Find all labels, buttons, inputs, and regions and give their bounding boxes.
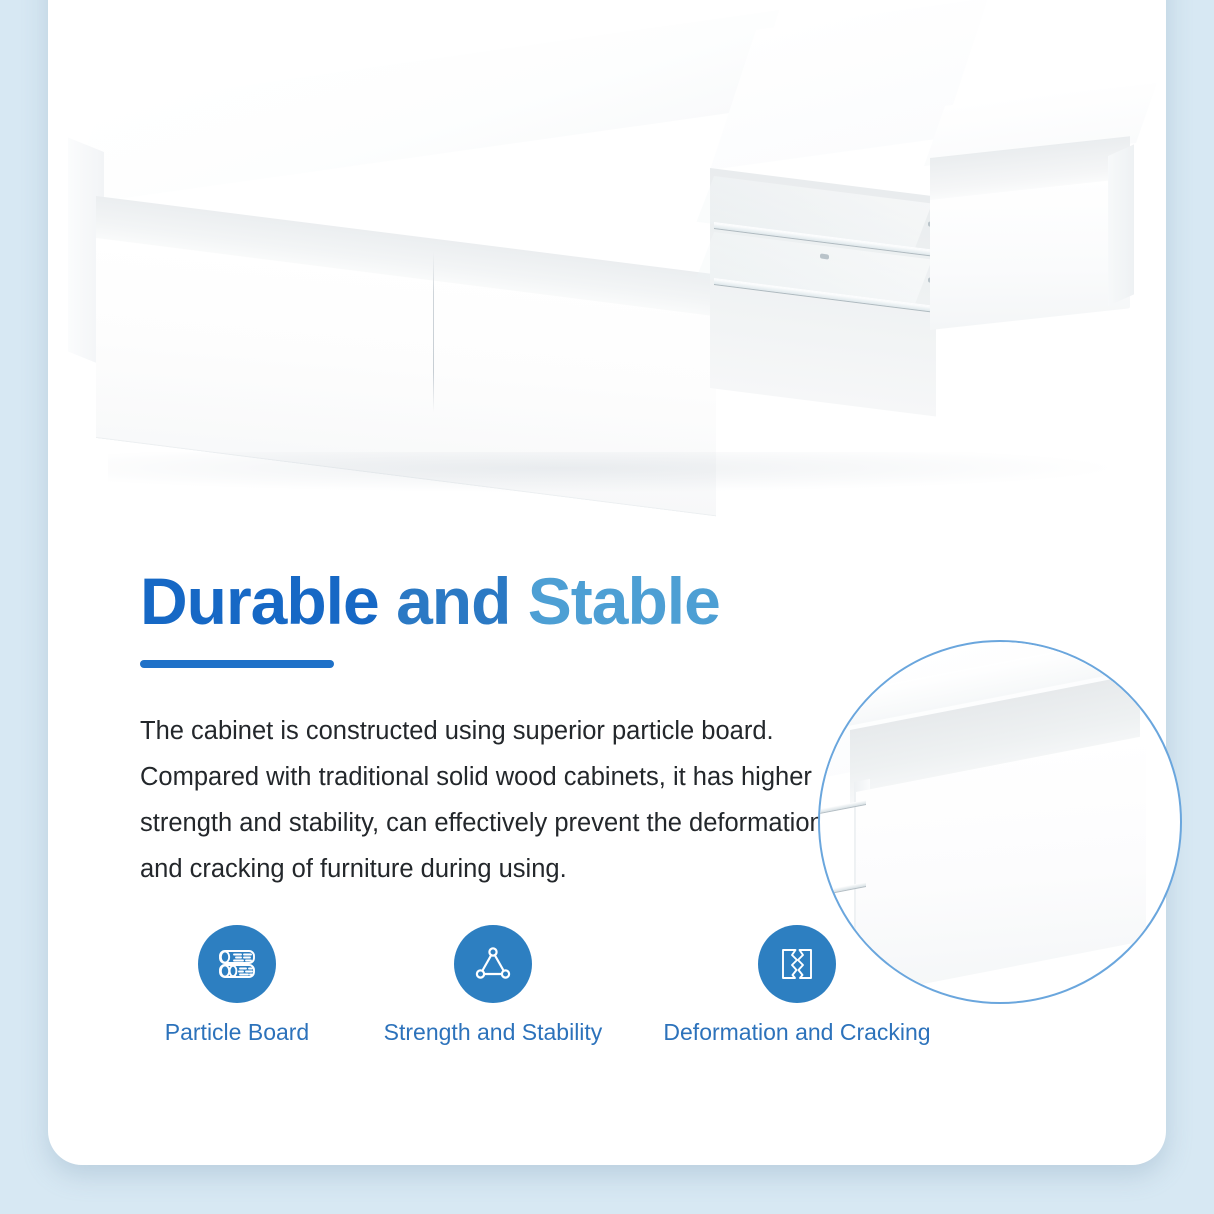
feature-label: Strength and Stability <box>348 1019 638 1046</box>
feature-label: Particle Board <box>126 1019 348 1046</box>
feature-list: Particle Board Strength and Stability <box>126 925 956 1055</box>
stacked-logs-icon <box>214 941 260 987</box>
title-underline-rule <box>140 660 334 668</box>
tv-stand-illustration <box>48 0 1166 530</box>
product-drop-shadow <box>108 452 1108 492</box>
feature-icon-badge <box>198 925 276 1003</box>
feature-icon-badge <box>454 925 532 1003</box>
cabinet-drawer-front-right <box>930 178 1130 330</box>
node-triangle-icon <box>470 941 516 987</box>
shelf-clip-icon <box>820 253 829 259</box>
cabinet-right-side-panel <box>1108 144 1134 306</box>
cabinet-top-surface-left <box>68 10 779 206</box>
feature-icon-badge <box>758 925 836 1003</box>
page-title-part-3: Stable <box>528 564 720 638</box>
feature-label: Deformation and Cracking <box>638 1019 956 1046</box>
feature-item-strength-stability: Strength and Stability <box>348 925 638 1046</box>
page-title: Durable and Stable <box>140 568 720 634</box>
drawer-seam-line <box>433 252 434 412</box>
cabinet-detail-zoom-circle <box>818 640 1182 1004</box>
page-title-part-2: and <box>396 564 528 638</box>
description-paragraph: The cabinet is constructed using superio… <box>140 708 830 892</box>
feature-item-particle-board: Particle Board <box>126 925 348 1046</box>
product-hero-image <box>48 0 1166 530</box>
cracked-panel-icon <box>774 941 820 987</box>
page-title-part-1: Durable <box>140 564 396 638</box>
